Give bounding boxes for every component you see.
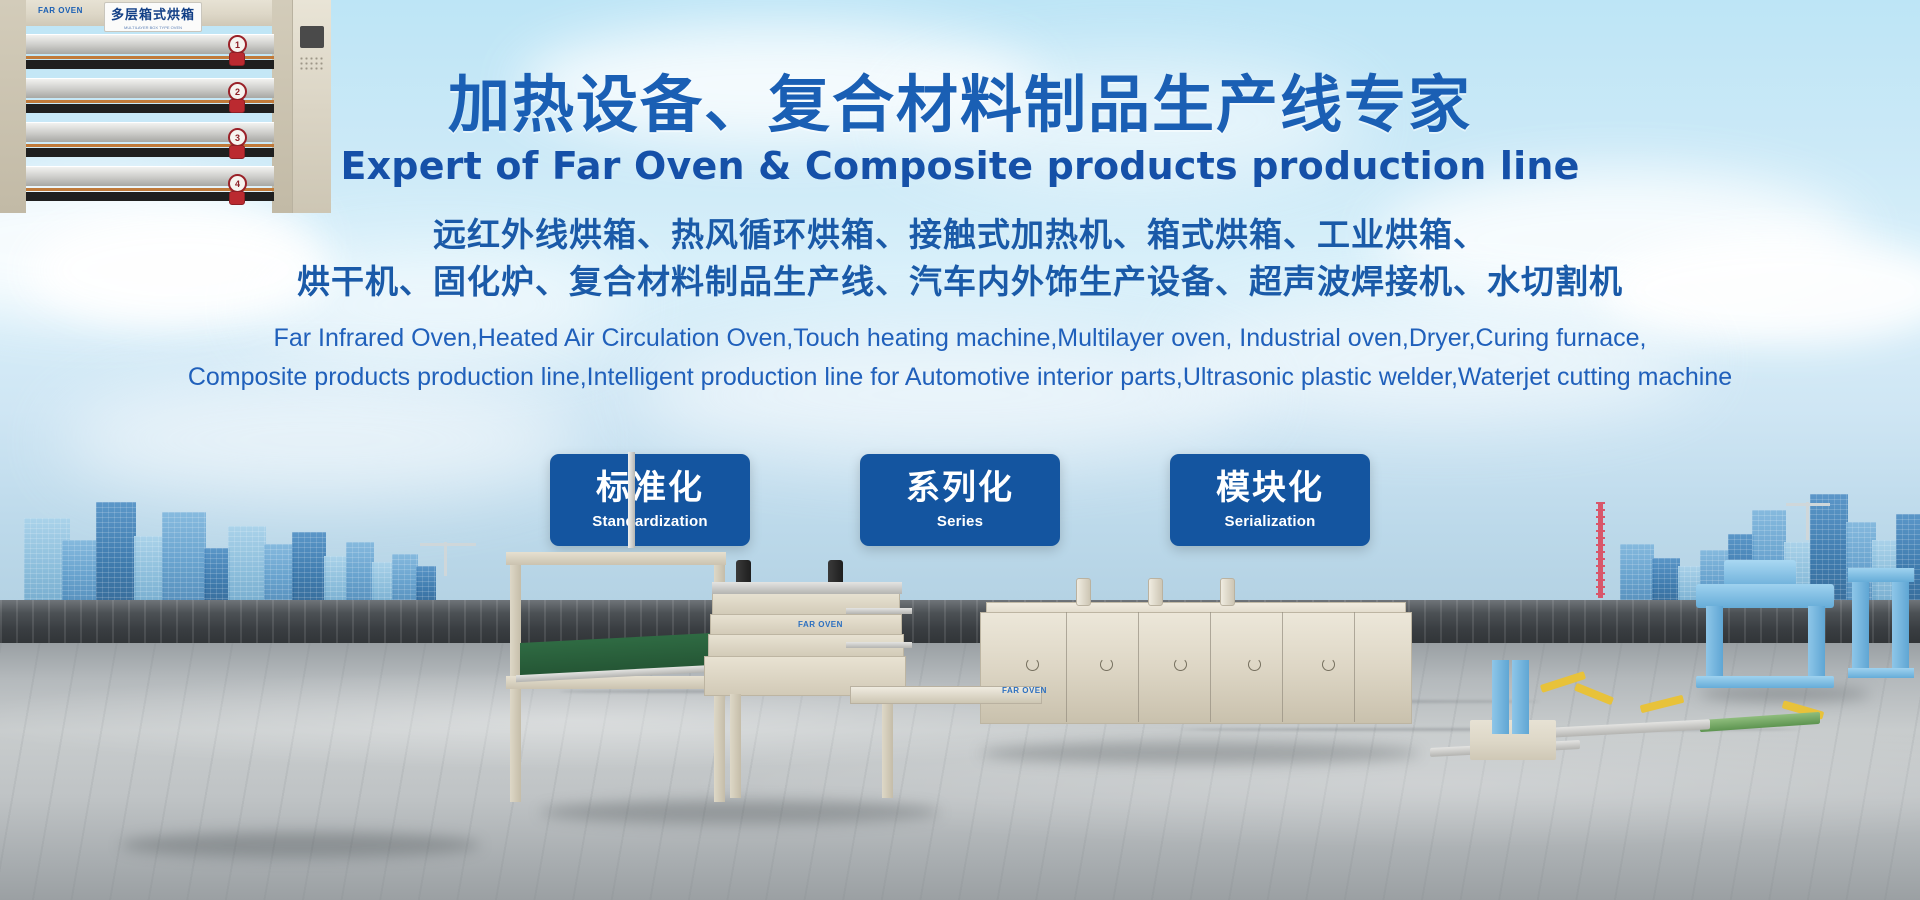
blue-press-platen [1696,584,1834,608]
press-side-rail [846,642,912,648]
badge-label-en: Serialization [1225,513,1316,530]
press-brand-logo: FAR OVEN [798,620,843,629]
tunnel-access-latch[interactable] [1174,658,1187,671]
gantry-column [1852,568,1869,672]
oven-shadow [120,832,480,858]
feature-badges: 标准化 Standardization 系列化 Series 模块化 Seria… [0,454,1920,546]
gantry-crossbeam [1848,568,1914,582]
tunnel-access-latch[interactable] [1100,658,1113,671]
blue-press-head [1724,560,1796,586]
tunnel-access-latch[interactable] [1322,658,1335,671]
machine-press-line[interactable]: FAR OVEN [498,516,918,806]
oven-layer-button-3[interactable] [229,145,245,159]
tunnel-panel-seam [1066,612,1067,722]
tunnel-panel-seam [1282,612,1283,722]
oven-brand-logo: FAR OVEN [38,6,83,15]
oven-right-frame [272,0,292,213]
oven-layer-button-2[interactable] [229,99,245,113]
press-support-leg [882,694,893,798]
tunnel-panel-seam [1210,612,1211,722]
perimeter-wall [0,600,1920,646]
banner-stage: 加热设备、复合材料制品生产线专家 Expert of Far Oven & Co… [0,0,1920,900]
tunnel-exhaust-stack [1148,578,1163,606]
tunnel-brand-logo: FAR OVEN [1002,686,1047,695]
press-side-rail [846,608,912,614]
machine-tunnel-oven[interactable]: FAR OVEN [980,590,1410,750]
tunnel-access-latch[interactable] [1026,658,1039,671]
tunnel-panel-seam [1354,612,1355,722]
badge-label-cn: 标准化 [596,470,704,507]
blue-press-base [1696,676,1834,688]
product-list-cn-line2: 烘干机、固化炉、复合材料制品生产线、汽车内外饰生产设备、超声波焊接机、水切割机 [0,259,1920,306]
badge-label-en: Series [937,513,983,530]
feeder-column [1512,660,1529,734]
feeder-column [1492,660,1509,734]
oven-nameplate: 多层箱式烘箱 MULTILAYER BOX TYPE OVEN [104,2,202,32]
tunnel-exhaust-stack [1220,578,1235,606]
blue-press-leg [1808,606,1825,680]
badge-serialization[interactable]: 模块化 Serialization [1170,454,1370,546]
press-support-leg [730,694,741,798]
oven-vent-grille [299,56,325,70]
oven-nameplate-cn: 多层箱式烘箱 [111,4,195,23]
oven-nameplate-en: MULTILAYER BOX TYPE OVEN [124,25,182,30]
gantry-column [1892,568,1909,672]
product-list-en-line1: Far Infrared Oven,Heated Air Circulation… [0,319,1920,358]
tunnel-body [980,612,1412,724]
blue-press-leg [1706,606,1723,680]
badge-label-cn: 系列化 [906,470,1014,507]
press-top-frame [712,582,902,594]
oven-left-frame [0,0,26,213]
product-list-en-line2: Composite products production line,Intel… [0,358,1920,397]
press-beam [506,552,726,565]
oven-layer-button-1[interactable] [229,52,245,66]
factory-floor [0,643,1920,900]
press-mast-rod [628,452,635,548]
tunnel-panel-seam [1138,612,1139,722]
oven-layer-button-4[interactable] [229,191,245,205]
oven-display-screen[interactable] [300,26,324,48]
gantry-base [1848,668,1914,678]
machine-blue-press[interactable] [1690,560,1865,690]
tunnel-access-latch[interactable] [1248,658,1261,671]
tunnel-exhaust-stack [1076,578,1091,606]
product-list-cn-line1: 远红外线烘箱、热风循环烘箱、接触式加热机、箱式烘箱、工业烘箱、 [0,212,1920,259]
badge-label-cn: 模块化 [1216,470,1324,507]
